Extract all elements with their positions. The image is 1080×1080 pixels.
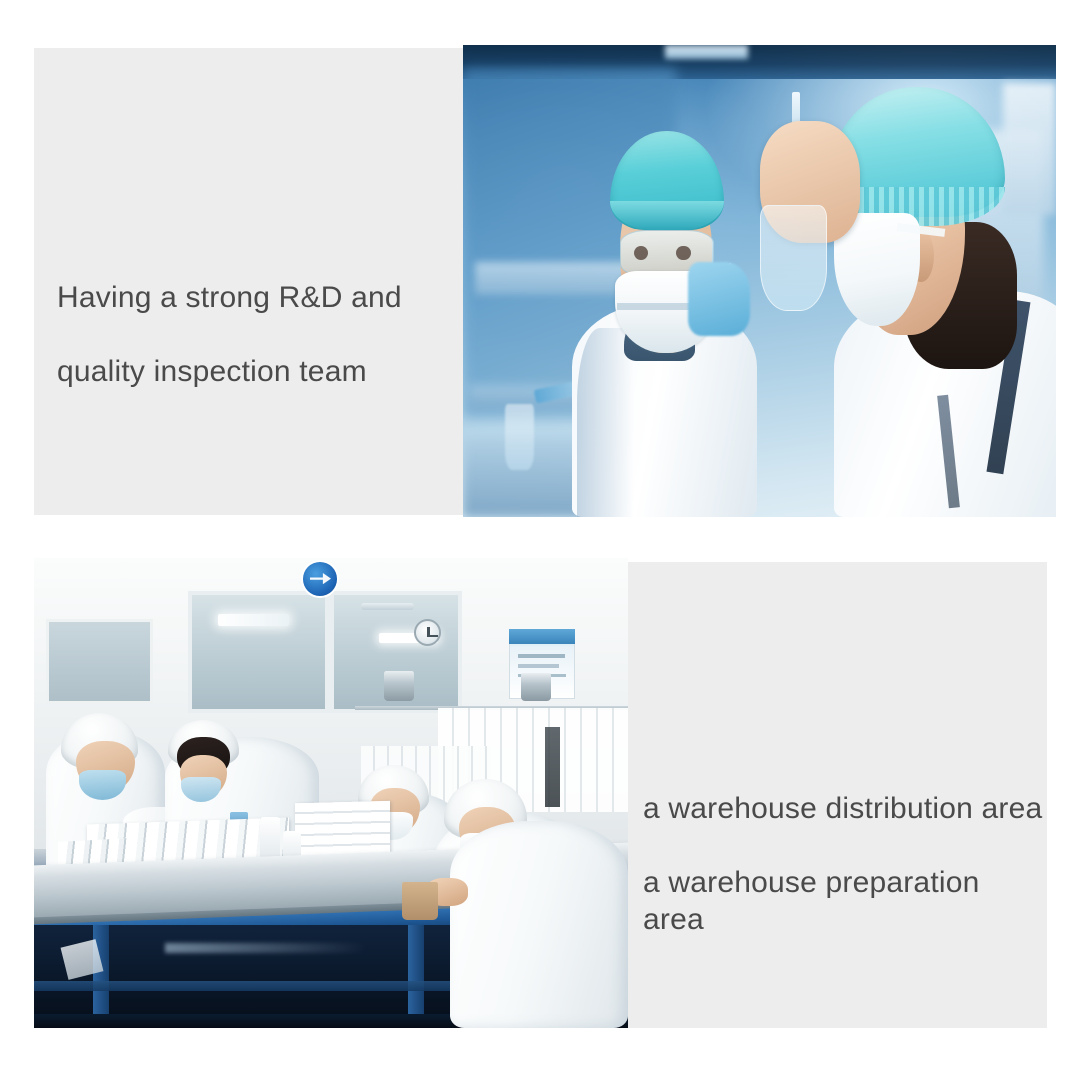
- ceiling-light: [218, 614, 289, 625]
- warehouse-caption: a warehouse distribution area a warehous…: [643, 753, 1043, 975]
- steel-container: [521, 673, 551, 701]
- notice-board-header: [509, 629, 574, 645]
- warehouse-worker-foreground: [450, 821, 628, 1028]
- clock-minute-hand: [427, 635, 438, 637]
- lab-coat-shadow: [577, 328, 634, 517]
- white-bottle: [260, 817, 280, 859]
- ceiling-light: [665, 45, 748, 59]
- steel-container: [384, 671, 414, 702]
- table-leg: [93, 925, 108, 1028]
- warehouse-packing-photo: [34, 558, 628, 1028]
- eye-right: [676, 246, 690, 260]
- cardboard-cup: [402, 882, 438, 920]
- rd-quality-caption: Having a strong R&D and quality inspecti…: [57, 242, 457, 427]
- rd-quality-caption-line-2: quality inspection team: [57, 353, 457, 390]
- shelf-gap: [545, 727, 560, 807]
- air-duct: [361, 603, 414, 611]
- lab-quality-inspection-photo: [463, 45, 1056, 517]
- page-canvas: Having a strong R&D and quality inspecti…: [0, 0, 1080, 1080]
- warehouse-caption-line-2: a warehouse preparation area: [643, 864, 1043, 938]
- glass-flask: [760, 205, 827, 311]
- table-leg: [408, 925, 423, 1028]
- rd-quality-caption-line-1: Having a strong R&D and: [57, 279, 457, 316]
- notice-text-line: [518, 664, 560, 667]
- notice-text-line: [518, 654, 566, 657]
- side-window: [46, 619, 153, 704]
- window-mullion: [325, 591, 334, 713]
- blue-mask-held: [688, 262, 750, 336]
- glass-beaker: [505, 404, 535, 470]
- under-table-highlight: [165, 943, 367, 952]
- white-coat: [450, 821, 628, 1028]
- warehouse-caption-line-1: a warehouse distribution area: [643, 790, 1043, 827]
